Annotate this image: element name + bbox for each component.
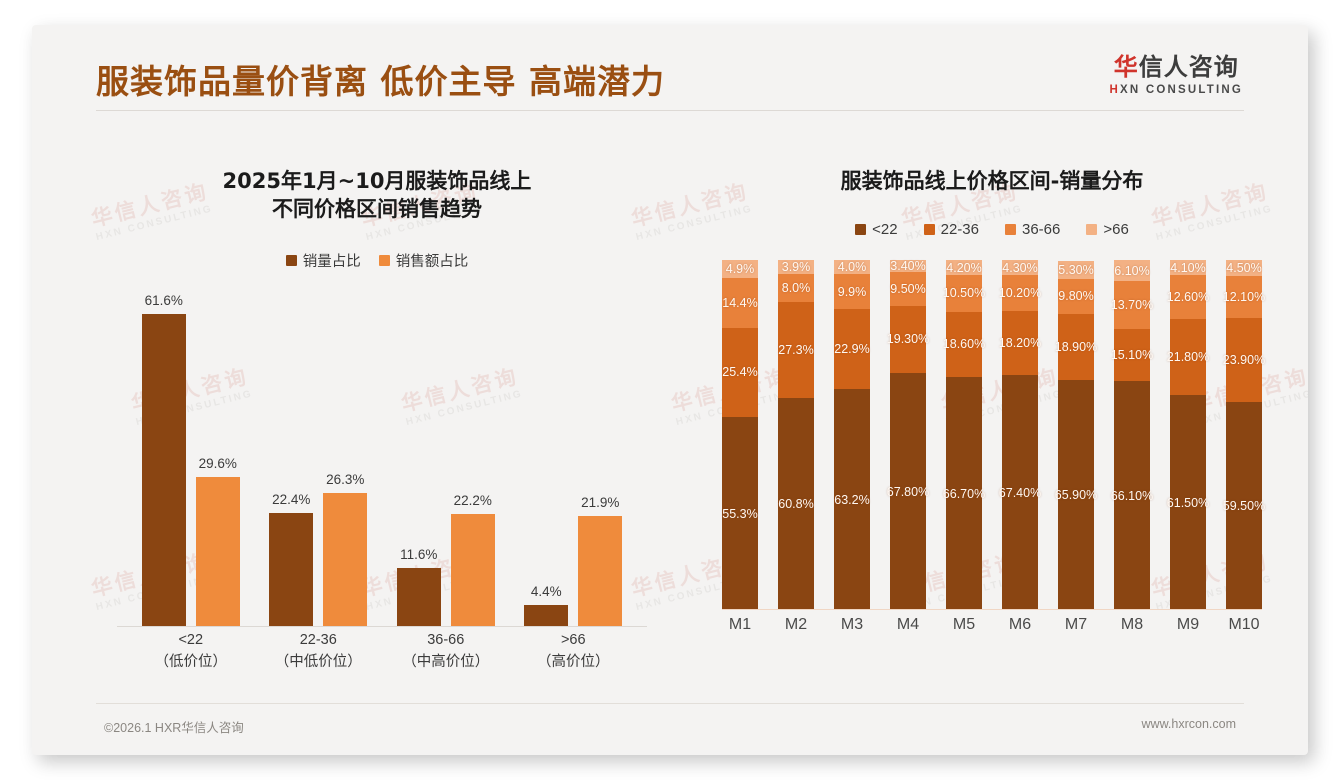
stacked-bar-segment: 4.0% — [834, 260, 870, 274]
stacked-bar-segment: 65.90% — [1058, 380, 1094, 611]
stacked-bar-segment: 9.50% — [890, 272, 926, 305]
segment-value-label: 14.4% — [722, 296, 757, 310]
bar[interactable]: 22.2% — [451, 514, 495, 627]
stacked-bar-segment: 4.9% — [722, 260, 758, 277]
bar-group: 61.6%29.6% — [142, 297, 240, 627]
stacked-bar-segment: 5.30% — [1058, 261, 1094, 280]
x-tick-main: >66 — [561, 632, 586, 648]
x-tick-sub: （高价位） — [523, 651, 623, 673]
stacked-bar-segment: 4.20% — [946, 260, 982, 275]
x-tick-sub: （低价位） — [141, 651, 241, 673]
bar[interactable]: 4.4% — [524, 605, 568, 627]
x-tick-label: M1 — [722, 616, 758, 634]
stacked-bar-segment: 55.3% — [722, 417, 758, 611]
segment-value-label: 4.50% — [1226, 261, 1261, 275]
segment-value-label: 9.80% — [1058, 289, 1093, 303]
right-legend-item[interactable]: 22-36 — [924, 221, 979, 238]
stacked-bar-segment: 4.50% — [1226, 260, 1262, 276]
right-chart-title: 服装饰品线上价格区间-销量分布 — [692, 125, 1292, 195]
bar-value-label: 4.4% — [531, 584, 562, 599]
right-legend-label: 36-66 — [1022, 221, 1060, 238]
bar-group: 22.4%26.3% — [269, 297, 367, 627]
stacked-bar-segment: 61.50% — [1170, 395, 1206, 610]
left-chart-title: 2025年1月~10月服装饰品线上 不同价格区间销售趋势 — [72, 125, 682, 224]
x-tick-main: <22 — [178, 632, 203, 648]
bar-fill — [142, 314, 186, 627]
segment-value-label: 63.2% — [834, 493, 869, 507]
bar-fill — [578, 516, 622, 627]
segment-value-label: 5.30% — [1058, 263, 1093, 277]
bar[interactable]: 26.3% — [323, 493, 367, 627]
stacked-bar-segment: 9.80% — [1058, 279, 1094, 313]
segment-value-label: 23.90% — [1223, 353, 1265, 367]
stacked-bar-segment: 9.9% — [834, 274, 870, 309]
stacked-bar-column[interactable]: 4.20%10.50%18.60%66.70% — [946, 260, 982, 610]
segment-value-label: 65.90% — [1055, 488, 1097, 502]
segment-value-label: 21.80% — [1167, 350, 1209, 364]
bar-value-label: 26.3% — [326, 472, 364, 487]
right-legend-swatch-icon — [1005, 224, 1016, 235]
segment-value-label: 18.90% — [1055, 340, 1097, 354]
bar-group: 11.6%22.2% — [397, 297, 495, 627]
logo-english: HXN CONSULTING — [1110, 84, 1243, 96]
logo-english-hx: H — [1110, 84, 1121, 96]
stacked-bar-segment: 3.9% — [778, 260, 814, 274]
left-chart-title-line2: 不同价格区间销售趋势 — [72, 195, 682, 223]
x-tick-sub: （中低价位） — [268, 651, 368, 673]
segment-value-label: 18.60% — [943, 337, 985, 351]
bar-fill — [269, 513, 313, 627]
stacked-bar-segment: 67.40% — [1002, 375, 1038, 611]
stacked-bar-segment: 14.4% — [722, 278, 758, 328]
segment-value-label: 22.9% — [834, 342, 869, 356]
page-title: 服装饰品量价背离 低价主导 高端潜力 — [96, 55, 665, 103]
left-legend-swatch-icon — [379, 255, 390, 266]
segment-value-label: 9.9% — [838, 285, 867, 299]
bar[interactable]: 29.6% — [196, 477, 240, 627]
logo-english-rest: XN CONSULTING — [1120, 84, 1243, 96]
stacked-bar-segment: 12.10% — [1226, 276, 1262, 318]
segment-value-label: 4.10% — [1170, 261, 1205, 275]
stacked-bar-segment: 25.4% — [722, 328, 758, 417]
stacked-bar-column[interactable]: 3.9%8.0%27.3%60.8% — [778, 260, 814, 610]
segment-value-label: 3.9% — [782, 260, 811, 274]
stacked-bar-segment: 6.10% — [1114, 260, 1150, 281]
segment-value-label: 6.10% — [1114, 264, 1149, 278]
stacked-bar-segment: 63.2% — [834, 389, 870, 610]
x-tick-label: M7 — [1058, 616, 1094, 634]
stacked-bar-column[interactable]: 6.10%13.70%15.10%66.10% — [1114, 260, 1150, 610]
logo-chinese: 华信人咨询 — [1110, 55, 1243, 81]
x-tick-label: M10 — [1226, 616, 1262, 634]
stacked-bar-segment: 10.20% — [1002, 275, 1038, 311]
stacked-bar-segment: 19.30% — [890, 306, 926, 374]
stacked-bar-column[interactable]: 5.30%9.80%18.90%65.90% — [1058, 260, 1094, 610]
stacked-bar-segment: 27.3% — [778, 302, 814, 398]
left-legend-item[interactable]: 销售额占比 — [379, 250, 469, 271]
footer-divider — [96, 703, 1244, 704]
logo-chinese-rest: 信人咨询 — [1139, 54, 1239, 81]
segment-value-label: 3.40% — [890, 259, 925, 273]
segment-value-label: 10.20% — [999, 286, 1041, 300]
x-tick-label: M4 — [890, 616, 926, 634]
brand-logo: 华信人咨询 HXN CONSULTING — [1110, 55, 1243, 96]
bar-fill — [451, 514, 495, 627]
bar[interactable]: 21.9% — [578, 516, 622, 627]
segment-value-label: 59.50% — [1223, 499, 1265, 513]
stacked-bar-segment: 21.80% — [1170, 319, 1206, 395]
right-legend-swatch-icon — [855, 224, 866, 235]
stacked-bar-segment: 10.50% — [946, 275, 982, 312]
left-legend-swatch-icon — [286, 255, 297, 266]
grouped-bar-x-axis-line — [117, 626, 647, 627]
stacked-bar-segment: 67.80% — [890, 373, 926, 610]
bar-value-label: 21.9% — [581, 495, 619, 510]
slide-card: 华信人咨询HXN CONSULTING华信人咨询HXN CONSULTING华信… — [32, 25, 1308, 755]
segment-value-label: 67.40% — [999, 486, 1041, 500]
right-chart-legend: <2222-3636-66>66 — [692, 221, 1292, 238]
stacked-bar-segment: 4.10% — [1170, 260, 1206, 274]
stacked-bar-column[interactable]: 3.40%9.50%19.30%67.80% — [890, 260, 926, 610]
right-legend-item[interactable]: <22 — [855, 221, 897, 238]
left-legend-label: 销量占比 — [303, 250, 361, 271]
stacked-bar-column[interactable]: 4.10%12.60%21.80%61.50% — [1170, 260, 1206, 610]
slide-footer: ©2026.1 HXR华信人咨询 www.hxrcon.com — [32, 703, 1308, 755]
stacked-bar-column[interactable]: 4.0%9.9%22.9%63.2% — [834, 260, 870, 610]
stacked-bar-segment: 18.20% — [1002, 311, 1038, 375]
segment-value-label: 27.3% — [778, 343, 813, 357]
slide-header: 服装饰品量价背离 低价主导 高端潜力 华信人咨询 HXN CONSULTING — [32, 25, 1308, 121]
stacked-bar-segment: 18.60% — [946, 312, 982, 377]
logo-chinese-hx: 华 — [1114, 54, 1139, 81]
stacked-bar-chart: 4.9%14.4%25.4%55.3%3.9%8.0%27.3%60.8%4.0… — [722, 260, 1262, 610]
stacked-bar-column[interactable]: 4.30%10.20%18.20%67.40% — [1002, 260, 1038, 610]
bar-value-label: 22.4% — [272, 492, 310, 507]
x-tick-main: 22-36 — [300, 632, 337, 648]
stacked-bar-segment: 8.0% — [778, 274, 814, 302]
stacked-bar-column[interactable]: 4.9%14.4%25.4%55.3% — [722, 260, 758, 610]
stacked-bar-segment: 23.90% — [1226, 318, 1262, 402]
x-tick-label: <22（低价位） — [141, 629, 241, 674]
stacked-bar-plot-area: 4.9%14.4%25.4%55.3%3.9%8.0%27.3%60.8%4.0… — [722, 260, 1262, 610]
header-divider — [96, 110, 1244, 111]
segment-value-label: 15.10% — [1111, 348, 1153, 362]
bar[interactable]: 61.6% — [142, 314, 186, 627]
segment-value-label: 55.3% — [722, 507, 757, 521]
stacked-bar-segment: 60.8% — [778, 398, 814, 611]
segment-value-label: 9.50% — [890, 282, 925, 296]
stacked-bar-segment: 18.90% — [1058, 314, 1094, 380]
bar-fill — [397, 568, 441, 627]
segment-value-label: 61.50% — [1167, 496, 1209, 510]
segment-value-label: 4.20% — [946, 261, 981, 275]
stacked-bar-segment: 3.40% — [890, 260, 926, 272]
right-legend-swatch-icon — [924, 224, 935, 235]
left-legend-label: 销售额占比 — [396, 250, 469, 271]
bar-fill — [323, 493, 367, 627]
segment-value-label: 19.30% — [887, 332, 929, 346]
segment-value-label: 13.70% — [1111, 298, 1153, 312]
grouped-bar-plot-area: 61.6%29.6%22.4%26.3%11.6%22.2%4.4%21.9% — [127, 297, 637, 627]
x-tick-label: M9 — [1170, 616, 1206, 634]
segment-value-label: 10.50% — [943, 286, 985, 300]
right-legend-label: >66 — [1103, 221, 1128, 238]
stacked-bar-x-axis-line — [722, 609, 1262, 610]
bar-value-label: 22.2% — [454, 493, 492, 508]
x-tick-label: >66（高价位） — [523, 629, 623, 674]
segment-value-label: 60.8% — [778, 497, 813, 511]
bar-value-label: 11.6% — [400, 547, 437, 562]
right-legend-item[interactable]: 36-66 — [1005, 221, 1060, 238]
x-tick-main: 36-66 — [427, 632, 464, 648]
right-legend-item[interactable]: >66 — [1086, 221, 1128, 238]
bar[interactable]: 11.6% — [397, 568, 441, 627]
stacked-bar-segment: 22.9% — [834, 309, 870, 389]
x-tick-label: M8 — [1114, 616, 1150, 634]
segment-value-label: 66.10% — [1111, 489, 1153, 503]
bar-fill — [196, 477, 240, 627]
bar[interactable]: 22.4% — [269, 513, 313, 627]
stacked-bar-x-tick-labels: M1M2M3M4M5M6M7M8M9M10 — [722, 616, 1262, 634]
bar-value-label: 29.6% — [199, 456, 237, 471]
segment-value-label: 18.20% — [999, 336, 1041, 350]
left-chart-title-line1: 2025年1月~10月服装饰品线上 — [223, 169, 532, 193]
x-tick-label: M6 — [1002, 616, 1038, 634]
grouped-bar-x-tick-labels: <22（低价位）22-36（中低价位）36-66（中高价位）>66（高价位） — [127, 629, 637, 674]
segment-value-label: 4.9% — [726, 262, 755, 276]
stacked-bar-segment: 13.70% — [1114, 281, 1150, 328]
segment-value-label: 67.80% — [887, 485, 929, 499]
segment-value-label: 4.0% — [838, 260, 867, 274]
x-tick-label: M5 — [946, 616, 982, 634]
right-legend-label: 22-36 — [941, 221, 979, 238]
stacked-bar-column[interactable]: 4.50%12.10%23.90%59.50% — [1226, 260, 1262, 610]
stacked-bar-segment: 59.50% — [1226, 402, 1262, 610]
x-tick-label: 22-36（中低价位） — [268, 629, 368, 674]
segment-value-label: 25.4% — [722, 365, 757, 379]
x-tick-sub: （中高价位） — [396, 651, 496, 673]
right-legend-swatch-icon — [1086, 224, 1097, 235]
right-chart-panel: 服装饰品线上价格区间-销量分布 <2222-3636-66>66 4.9%14.… — [692, 125, 1292, 725]
right-legend-label: <22 — [872, 221, 897, 238]
x-tick-label: M3 — [834, 616, 870, 634]
segment-value-label: 4.30% — [1002, 261, 1037, 275]
footer-copyright: ©2026.1 HXR华信人咨询 — [104, 717, 244, 736]
bar-fill — [524, 605, 568, 627]
stacked-bar-segment: 66.10% — [1114, 381, 1150, 610]
segment-value-label: 12.60% — [1167, 290, 1209, 304]
grouped-bar-chart: 61.6%29.6%22.4%26.3%11.6%22.2%4.4%21.9% … — [107, 297, 647, 627]
segment-value-label: 12.10% — [1223, 290, 1265, 304]
left-chart-legend: 销量占比销售额占比 — [72, 250, 682, 271]
stacked-bar-segment: 66.70% — [946, 377, 982, 610]
bar-value-label: 61.6% — [145, 293, 183, 308]
footer-website[interactable]: www.hxrcon.com — [1142, 717, 1236, 731]
x-tick-label: M2 — [778, 616, 814, 634]
left-legend-item[interactable]: 销量占比 — [286, 250, 361, 271]
segment-value-label: 66.70% — [943, 487, 985, 501]
segment-value-label: 8.0% — [782, 281, 811, 295]
bar-group: 4.4%21.9% — [524, 297, 622, 627]
stacked-bar-segment: 4.30% — [1002, 260, 1038, 275]
stacked-bar-segment: 12.60% — [1170, 275, 1206, 319]
left-chart-panel: 2025年1月~10月服装饰品线上 不同价格区间销售趋势 销量占比销售额占比 6… — [72, 125, 682, 725]
x-tick-label: 36-66（中高价位） — [396, 629, 496, 674]
right-chart-title-text: 服装饰品线上价格区间-销量分布 — [841, 169, 1144, 193]
stacked-bar-segment: 15.10% — [1114, 329, 1150, 381]
